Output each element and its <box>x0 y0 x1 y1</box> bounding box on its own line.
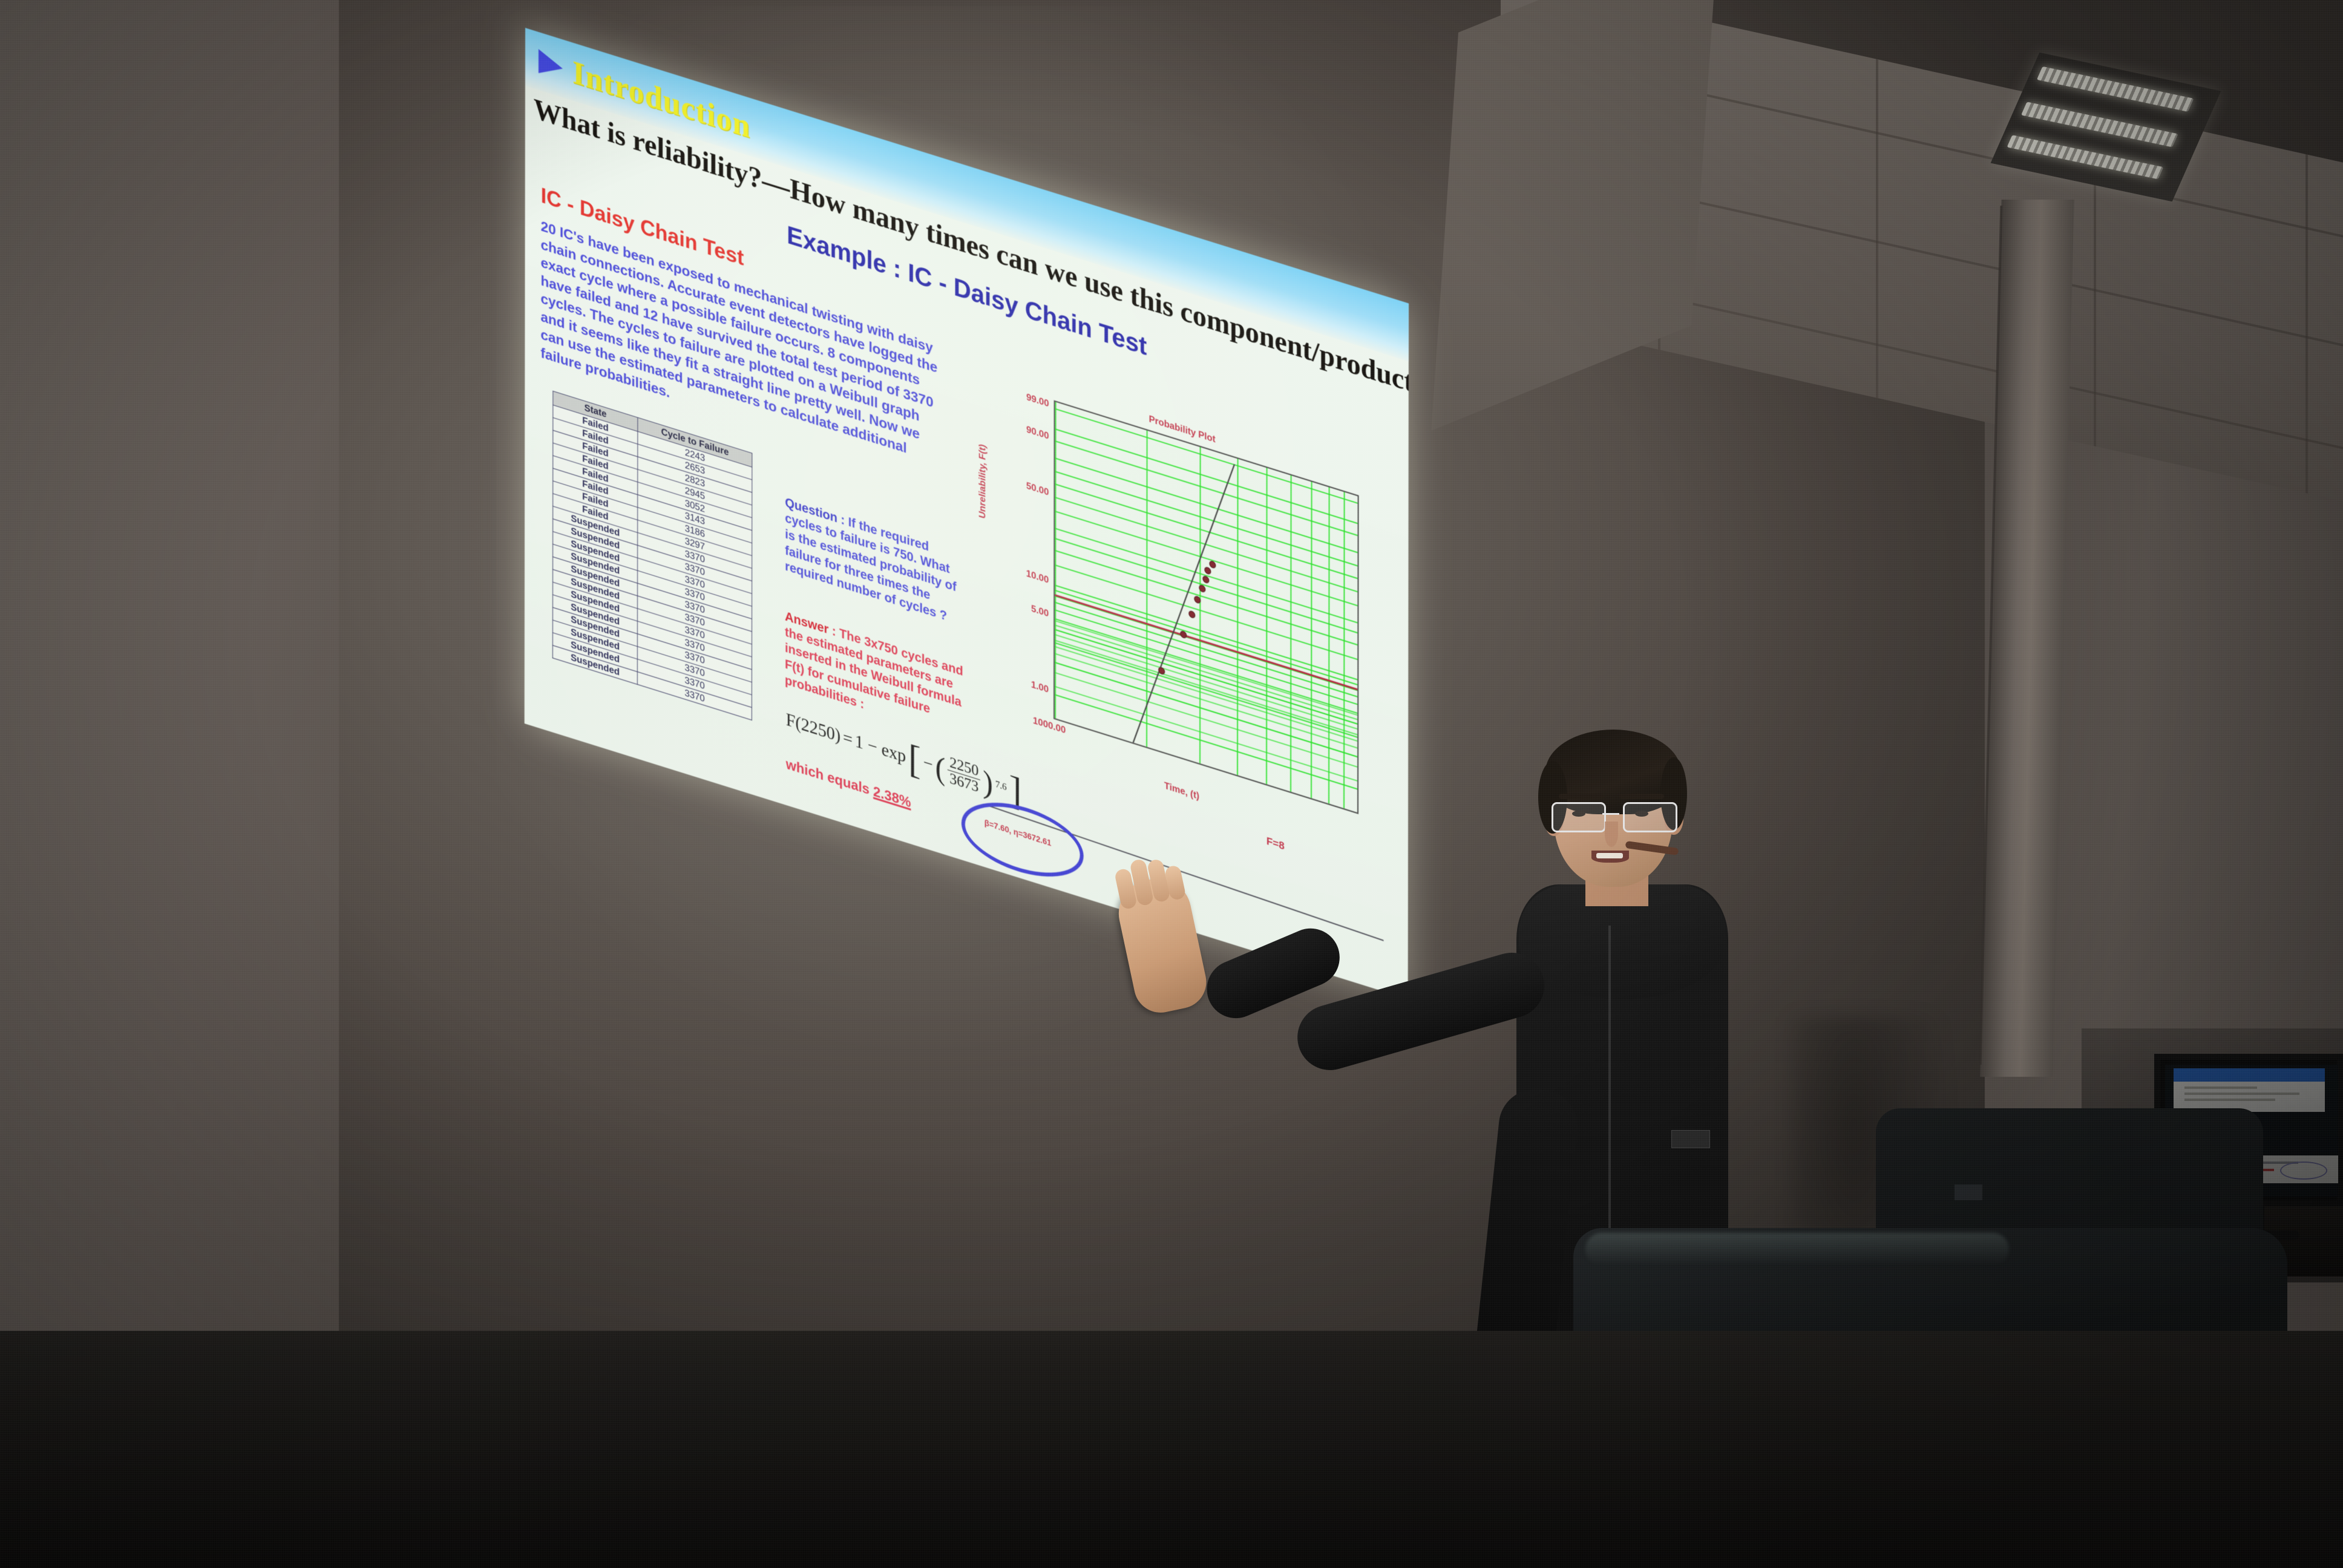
jacket-logo-patch <box>1671 1130 1710 1148</box>
failure-data-table: State Cycle to Failure Failed2243Failed2… <box>552 391 753 720</box>
seat-highlight <box>1585 1233 2009 1266</box>
presenter-nose <box>1605 822 1618 847</box>
chart-y-axis: 99.0090.0050.0010.005.001.00 <box>982 378 1049 715</box>
formula-paren-open: ( <box>936 757 946 779</box>
result-prefix: which equals <box>786 756 873 799</box>
monitor-window-body <box>2174 1082 2325 1112</box>
chart-gridline-v <box>1055 402 1057 718</box>
chart-gridline-h <box>1055 602 1357 697</box>
chart-gridline-v <box>1290 475 1292 792</box>
result-value: 2.38% <box>873 783 911 811</box>
formula-bracket-open: [ <box>908 746 921 774</box>
question-text: : If the required cycles to failure is 7… <box>785 511 956 624</box>
chart-gridline-v <box>1266 468 1268 784</box>
chart-gridline-h <box>1055 624 1357 720</box>
formula-lhs: F(2250) <box>786 710 841 747</box>
chart-y-tick: 1.00 <box>1031 679 1049 696</box>
chart-annotation-f: F=8 <box>1267 835 1285 853</box>
presenter-brow-left <box>1559 794 1604 799</box>
formula-one-minus-exp: 1 − exp <box>855 731 906 768</box>
formula-bracket-close: ] <box>1009 777 1022 806</box>
chart-y-tick: 99.00 <box>1026 392 1049 410</box>
chart-gridline-v <box>1311 482 1312 798</box>
chart-gridline-v <box>1357 496 1359 812</box>
chart-gridline-v <box>1237 459 1239 775</box>
chart-gridline-h <box>1055 428 1358 524</box>
seat-badge <box>1955 1184 1982 1200</box>
screenshot-stage: Introduction What is reliability?—How ma… <box>0 0 2343 1568</box>
chart-gridline-h <box>1055 511 1357 607</box>
formula-fraction: 2250 3673 <box>948 754 980 796</box>
answer-text: : The 3x750 cycles and the estimated par… <box>785 623 963 716</box>
chart-gridline-v <box>1199 447 1201 763</box>
chart-gridline-v <box>1343 492 1345 808</box>
chart-data-point <box>1188 610 1195 619</box>
chart-fit-line <box>1124 464 1235 766</box>
presenter-brow-right <box>1619 794 1664 799</box>
chart-y-tick: 10.00 <box>1026 568 1049 586</box>
chart-y-tick: 50.00 <box>1026 480 1049 498</box>
foreground-floor <box>0 1331 2343 1568</box>
presenter-teeth <box>1596 853 1623 858</box>
monitor-window-titlebar <box>2174 1068 2325 1082</box>
chart-gridline-h <box>1055 645 1357 741</box>
chart-gridline-v <box>1328 487 1330 803</box>
chart-plot-area <box>1054 400 1359 814</box>
question-block: Question : If the required cycles to fai… <box>785 495 960 629</box>
formula-minus: − <box>923 753 933 776</box>
chart-y-tick: 5.00 <box>1031 603 1049 619</box>
chart-y-axis-label: Unreliability, F(t) <box>977 443 988 520</box>
arrow-right-icon <box>539 49 563 80</box>
probability-plot: Probability Plot 99.0090.0050.0010.005.0… <box>982 361 1382 877</box>
formula-paren-close: ) <box>983 771 993 794</box>
chart-y-tick: 90.00 <box>1026 424 1049 442</box>
formula-eq: = <box>843 727 853 750</box>
formula-exponent: 7.6 <box>995 780 1007 794</box>
